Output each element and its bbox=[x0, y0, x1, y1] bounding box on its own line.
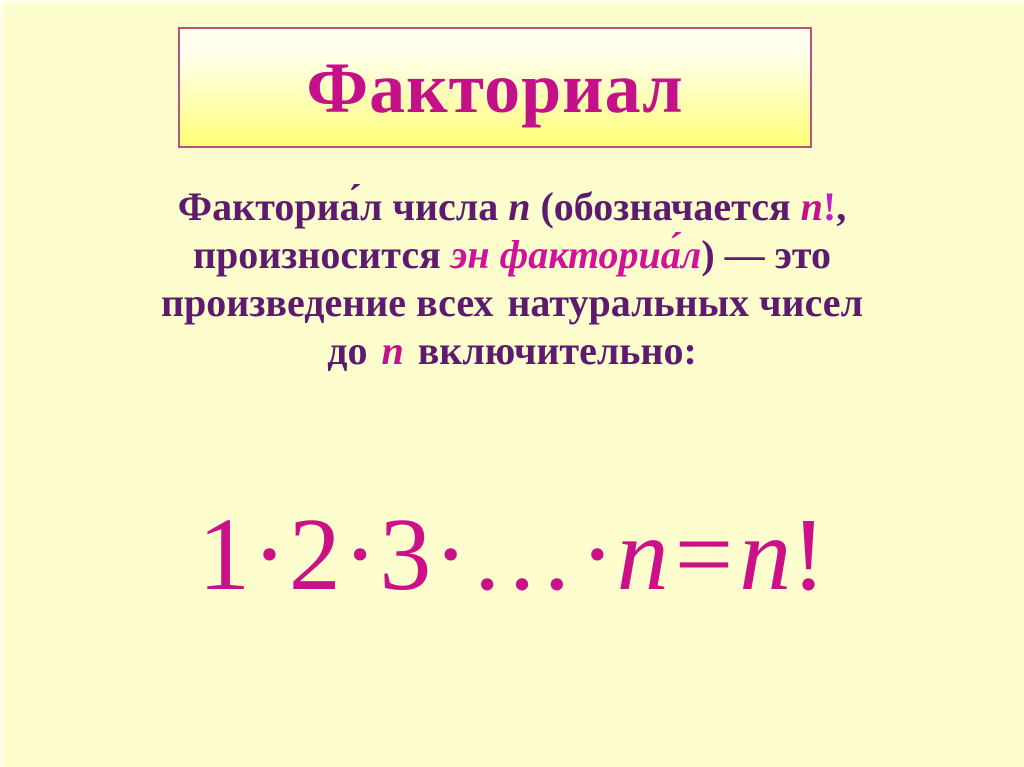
formula-operand-n: n bbox=[617, 497, 669, 612]
formula-operand-3: 3 bbox=[379, 497, 431, 612]
definition-paragraph: Факториа́л числа n (обозначается n!, про… bbox=[0, 183, 1024, 375]
definition-line-2: произносится эн факториа́л) — это bbox=[0, 231, 1024, 279]
formula-operand-2: 2 bbox=[289, 497, 341, 612]
definition-line-2-text-a: произносится bbox=[193, 232, 451, 277]
definition-line-1-comma: , bbox=[836, 184, 846, 229]
definition-line-2-text-b: ) — это bbox=[701, 232, 831, 277]
definition-line-1-accent-bang: ! bbox=[823, 184, 836, 229]
formula-operand-1: 1 bbox=[198, 497, 250, 612]
definition-line-1-var-n: n bbox=[508, 184, 530, 229]
definition-line-2-emph-faktorial: факториа́л bbox=[500, 232, 702, 277]
formula-result-bang: ! bbox=[791, 497, 826, 612]
title-box: Факториал bbox=[178, 27, 812, 148]
formula-dot-1: · bbox=[250, 497, 289, 612]
definition-line-1-accent-n: n bbox=[801, 184, 823, 229]
definition-line-2-space bbox=[490, 232, 500, 277]
definition-line-4-text-b: включительно: bbox=[418, 328, 697, 373]
definition-line-4-text-a: до bbox=[327, 328, 367, 373]
definition-line-3-text-b: натуральных чисел bbox=[507, 280, 863, 325]
definition-line-4-accent-n: n bbox=[381, 328, 403, 373]
formula-equals-sign: = bbox=[669, 497, 740, 612]
definition-line-1: Факториа́л числа n (обозначается n!, bbox=[0, 183, 1024, 231]
formula-dot-4: · bbox=[578, 497, 617, 612]
definition-line-3: произведение всехнатуральных чисел bbox=[0, 279, 1024, 327]
formula-ellipsis: … bbox=[470, 497, 578, 612]
definition-line-1-text-b: (обозначается bbox=[530, 184, 800, 229]
definition-line-4: доnвключительно: bbox=[0, 327, 1024, 375]
slide-canvas: Факториал Факториа́л числа n (обозначает… bbox=[0, 0, 1024, 767]
definition-line-3-text-a: произведение всех bbox=[161, 280, 493, 325]
definition-line-2-emph-en: эн bbox=[451, 232, 490, 277]
page-title: Факториал bbox=[306, 52, 683, 124]
factorial-formula: 1·2·3·…·n=n! bbox=[0, 495, 1024, 615]
formula-dot-2: · bbox=[341, 497, 380, 612]
formula-result-n: n bbox=[739, 497, 791, 612]
formula-dot-3: · bbox=[431, 497, 470, 612]
definition-line-1-text-a: Факториа́л числа bbox=[178, 184, 508, 229]
